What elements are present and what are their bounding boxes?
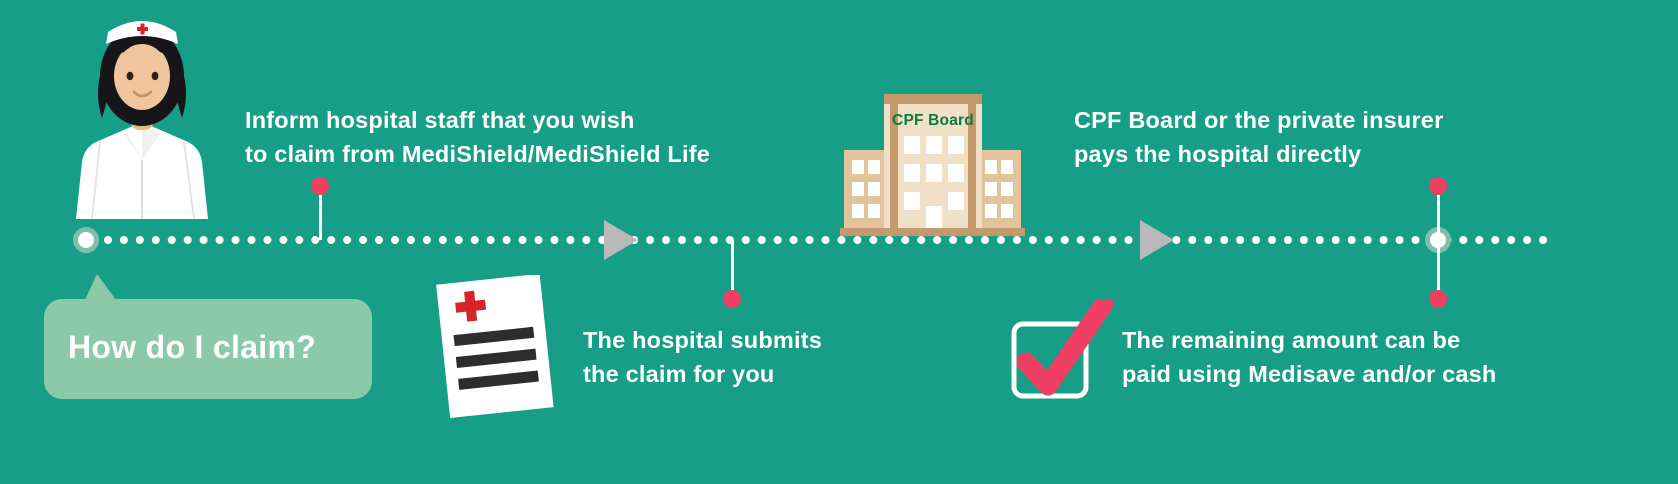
step-3-text: CPF Board or the private insurer pays th… [1074, 103, 1443, 171]
step-4-text: The remaining amount can be paid using M… [1122, 323, 1496, 391]
marker-dot-step1 [311, 177, 329, 195]
cpf-board-building-label: CPF Board [888, 112, 978, 130]
step-1-text: Inform hospital staff that you wish to c… [245, 103, 710, 171]
timeline-track [88, 236, 1548, 244]
connector-step3 [1437, 188, 1440, 240]
marker-dot-step3 [1429, 177, 1447, 195]
checkmark-icon [1008, 300, 1116, 402]
flow-arrow-1-icon [604, 220, 638, 260]
timeline-start-node [73, 227, 99, 253]
connector-step1 [319, 188, 322, 240]
flow-arrow-2-icon [1140, 220, 1174, 260]
infographic-canvas: How do I claim? Inform hospital staff th… [0, 0, 1678, 484]
claim-document-icon [425, 275, 563, 420]
question-bubble-tail [83, 274, 119, 304]
step-2-text: The hospital submits the claim for you [583, 323, 822, 391]
question-label: How do I claim? [68, 329, 316, 366]
marker-dot-step2 [723, 290, 741, 308]
nurse-icon [68, 14, 216, 219]
marker-dot-step4 [1429, 290, 1447, 308]
